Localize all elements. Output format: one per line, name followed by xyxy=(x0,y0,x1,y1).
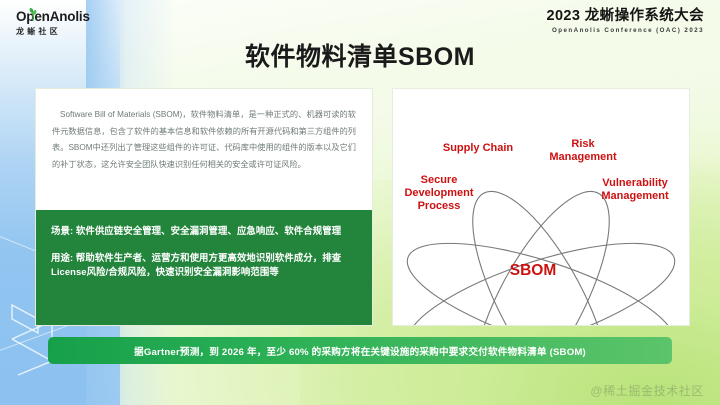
watermark: @稀土掘金技术社区 xyxy=(590,385,704,397)
label-vulnerability-line2: Management xyxy=(601,190,669,202)
slide-canvas: OpenAnolis 龙蜥社区 2023 龙蜥操作系统大会 OpenAnolis… xyxy=(0,0,720,405)
sbom-definition-paragraph: Software Bill of Materials (SBOM)，软件物料清单… xyxy=(36,89,372,173)
label-secure-dev-line1: Secure xyxy=(421,174,458,186)
label-secure-dev-line2: Development xyxy=(404,187,473,199)
highlight-block: 场景: 软件供应链安全管理、安全漏洞管理、应急响应、软件合规管理 用途: 帮助软… xyxy=(36,210,372,325)
logo-subtitle: 龙蜥社区 xyxy=(16,28,108,36)
label-risk-management-line2: Management xyxy=(549,151,617,163)
scenario-text: 场景: 软件供应链安全管理、安全漏洞管理、应急响应、软件合规管理 xyxy=(51,224,357,239)
gartner-prediction-banner: 据Gartner预测，到 2026 年，至少 60% 的采购方将在关键设施的采购… xyxy=(48,337,672,364)
openanolis-logo: OpenAnolis 龙蜥社区 xyxy=(16,10,108,36)
conference-title-en: OpenAnolis Conference (OAC) 2023 xyxy=(547,28,705,34)
label-risk-management-line1: Risk xyxy=(571,138,595,150)
label-sbom-center: SBOM xyxy=(510,262,557,279)
label-supply-chain: Supply Chain xyxy=(443,142,514,154)
conference-branding: 2023 龙蜥操作系统大会 OpenAnolis Conference (OAC… xyxy=(547,9,705,34)
leaf-icon xyxy=(29,8,37,21)
purpose-text: 用途: 帮助软件生产者、运营方和使用方更高效地识别软件成分，排查License风… xyxy=(51,251,357,280)
sbom-venn-diagram: Supply Chain Risk Management Secure Deve… xyxy=(392,88,690,326)
banner-text: 据Gartner预测，到 2026 年，至少 60% 的采购方将在关键设施的采购… xyxy=(134,344,586,358)
conference-title-cn: 2023 龙蜥操作系统大会 xyxy=(547,9,705,24)
page-title: 软件物料清单SBOM xyxy=(0,44,720,72)
label-vulnerability-line1: Vulnerability xyxy=(602,177,668,189)
definition-card: Software Bill of Materials (SBOM)，软件物料清单… xyxy=(35,88,373,326)
label-secure-dev-line3: Process xyxy=(418,200,461,212)
